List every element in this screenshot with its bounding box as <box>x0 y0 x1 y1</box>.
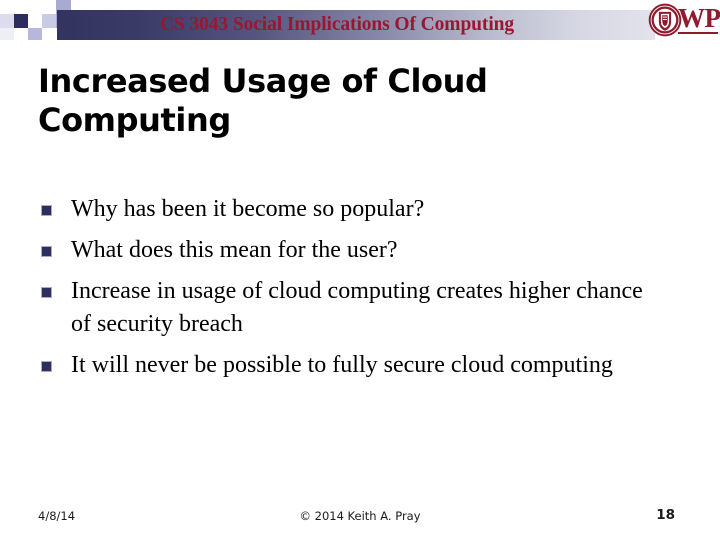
slide-header: CS 3043 Social Implications Of Computing… <box>0 0 720 46</box>
page-title: Increased Usage of Cloud Computing <box>38 62 638 140</box>
deco-square <box>28 0 42 14</box>
list-item-label: Increase in usage of cloud computing cre… <box>71 278 643 337</box>
list-item-label: Why has been it become so popular? <box>71 196 424 222</box>
list-item: It will never be possible to fully secur… <box>38 349 668 382</box>
deco-square <box>14 28 28 40</box>
deco-square <box>42 0 56 14</box>
deco-square <box>28 28 42 40</box>
list-item-label: It will never be possible to fully secur… <box>71 352 613 378</box>
deco-square <box>0 28 14 40</box>
bullet-square-icon <box>41 361 52 372</box>
list-item: Why has been it become so popular? <box>38 193 668 226</box>
wpi-logo: WPI <box>648 1 718 41</box>
footer-copyright: © 2014 Keith A. Pray <box>0 509 720 523</box>
deco-square <box>56 0 71 10</box>
deco-square <box>14 0 28 14</box>
footer-page-number: 18 <box>656 507 675 523</box>
list-item-label: What does this mean for the user? <box>71 237 398 263</box>
slide-footer: 4/8/14 © 2014 Keith A. Pray 18 <box>0 505 720 529</box>
bullet-square-icon <box>41 205 52 216</box>
deco-square <box>42 28 56 40</box>
deco-square <box>14 14 28 28</box>
list-item: What does this mean for the user? <box>38 234 668 267</box>
bullet-square-icon <box>41 246 52 257</box>
wpi-seal-icon <box>648 3 682 37</box>
bullet-list: Why has been it become so popular? What … <box>38 193 668 390</box>
list-item: Increase in usage of cloud computing cre… <box>38 275 668 341</box>
bullet-square-icon <box>41 287 52 298</box>
deco-square <box>0 14 14 28</box>
deco-square <box>71 0 87 10</box>
course-title: CS 3043 Social Implications Of Computing <box>57 10 617 40</box>
deco-square <box>0 0 14 14</box>
deco-square <box>28 40 42 46</box>
wpi-underline <box>678 32 718 34</box>
wpi-wordmark: WPI <box>678 4 720 32</box>
slide-canvas: CS 3043 Social Implications Of Computing… <box>0 0 720 540</box>
deco-square <box>42 14 56 28</box>
deco-square <box>28 14 42 28</box>
